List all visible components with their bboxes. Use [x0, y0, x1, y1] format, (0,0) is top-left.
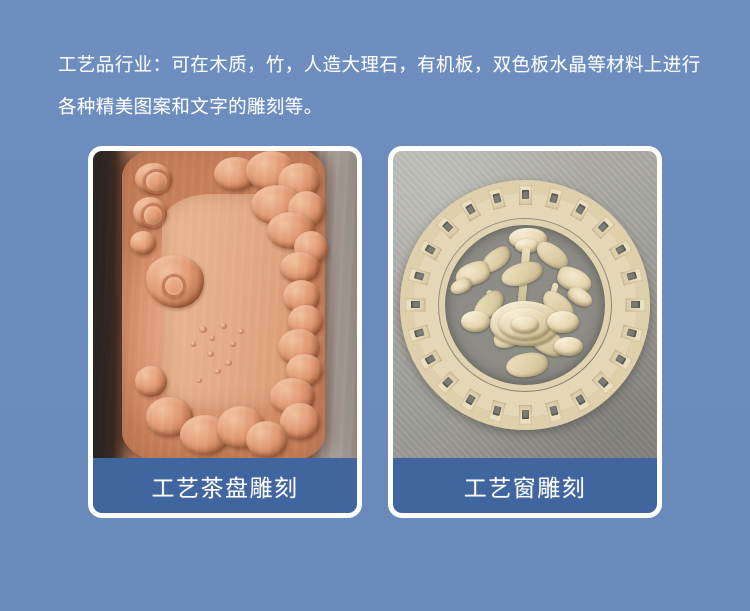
promo-banner: 工艺品行业：可在木质，竹，人造大理石，有机板，双色板水晶等材料上进行各种精美图案… [0, 0, 750, 611]
product-card-row: 工艺茶盘雕刻 [88, 146, 662, 518]
carved-round-window-panel-photo [393, 151, 657, 458]
product-card-tea-tray[interactable]: 工艺茶盘雕刻 [88, 146, 362, 518]
card-caption-window-panel: 工艺窗雕刻 [393, 458, 657, 513]
card-caption-tea-tray: 工艺茶盘雕刻 [93, 458, 357, 513]
intro-paragraph: 工艺品行业：可在木质，竹，人造大理石，有机板，双色板水晶等材料上进行各种精美图案… [58, 44, 706, 128]
product-card-window-panel[interactable]: 工艺窗雕刻 [388, 146, 662, 518]
carved-wooden-tea-tray-photo [93, 151, 357, 458]
